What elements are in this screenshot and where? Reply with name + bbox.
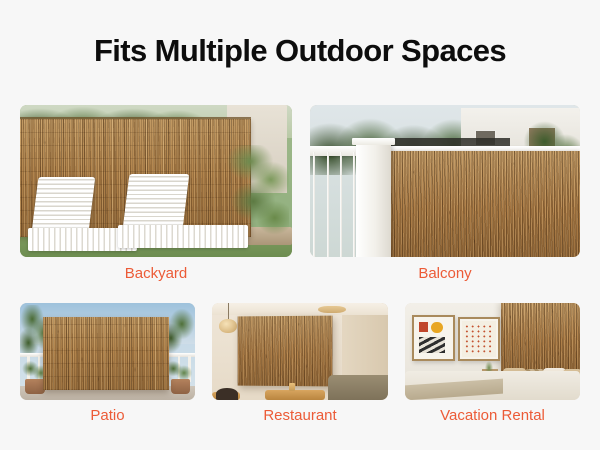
patio-photo: [20, 303, 195, 400]
caption-vacation-rental: Vacation Rental: [405, 407, 580, 424]
railing-post: [356, 140, 391, 257]
pot-right: [171, 379, 190, 395]
balcony-photo: [310, 105, 580, 257]
railing-post-cap: [352, 138, 396, 146]
pendant-cord: [228, 303, 229, 320]
railing-left: [310, 148, 359, 257]
backyard-photo: [20, 105, 292, 257]
gallery-item-balcony[interactable]: Balcony: [310, 105, 580, 257]
reed-screen: [43, 317, 169, 391]
promo-banner: Fits Multiple Outdoor Spaces Backya: [0, 0, 600, 450]
table-center: [265, 390, 325, 400]
gallery-item-restaurant[interactable]: Restaurant: [212, 303, 388, 400]
reed-screen: [391, 151, 580, 257]
caption-balcony: Balcony: [310, 265, 580, 282]
caption-patio: Patio: [20, 407, 195, 424]
plant-vase: [485, 361, 494, 371]
gallery-item-vacation-rental[interactable]: Vacation Rental: [405, 303, 580, 400]
table-candle: [289, 383, 294, 392]
gallery-item-patio[interactable]: Patio: [20, 303, 195, 400]
gallery-item-backyard[interactable]: Backyard: [20, 105, 292, 257]
ceiling-lamp: [318, 306, 346, 313]
page-title: Fits Multiple Outdoor Spaces: [0, 33, 600, 69]
banquette-seat: [328, 375, 388, 400]
pot-left: [25, 379, 44, 395]
ceiling: [212, 303, 388, 315]
caption-backyard: Backyard: [20, 265, 292, 282]
pendant-lamp: [219, 319, 237, 333]
caption-restaurant: Restaurant: [212, 407, 388, 424]
framed-art-right: [458, 317, 501, 362]
restaurant-photo: [212, 303, 388, 400]
framed-art-left: [412, 315, 455, 362]
chair: [216, 388, 239, 400]
vacation-rental-photo: [405, 303, 580, 400]
reed-wall-panel: [237, 315, 332, 386]
sun-lounger: [118, 172, 249, 257]
reed-headboard-wall: [501, 303, 580, 373]
